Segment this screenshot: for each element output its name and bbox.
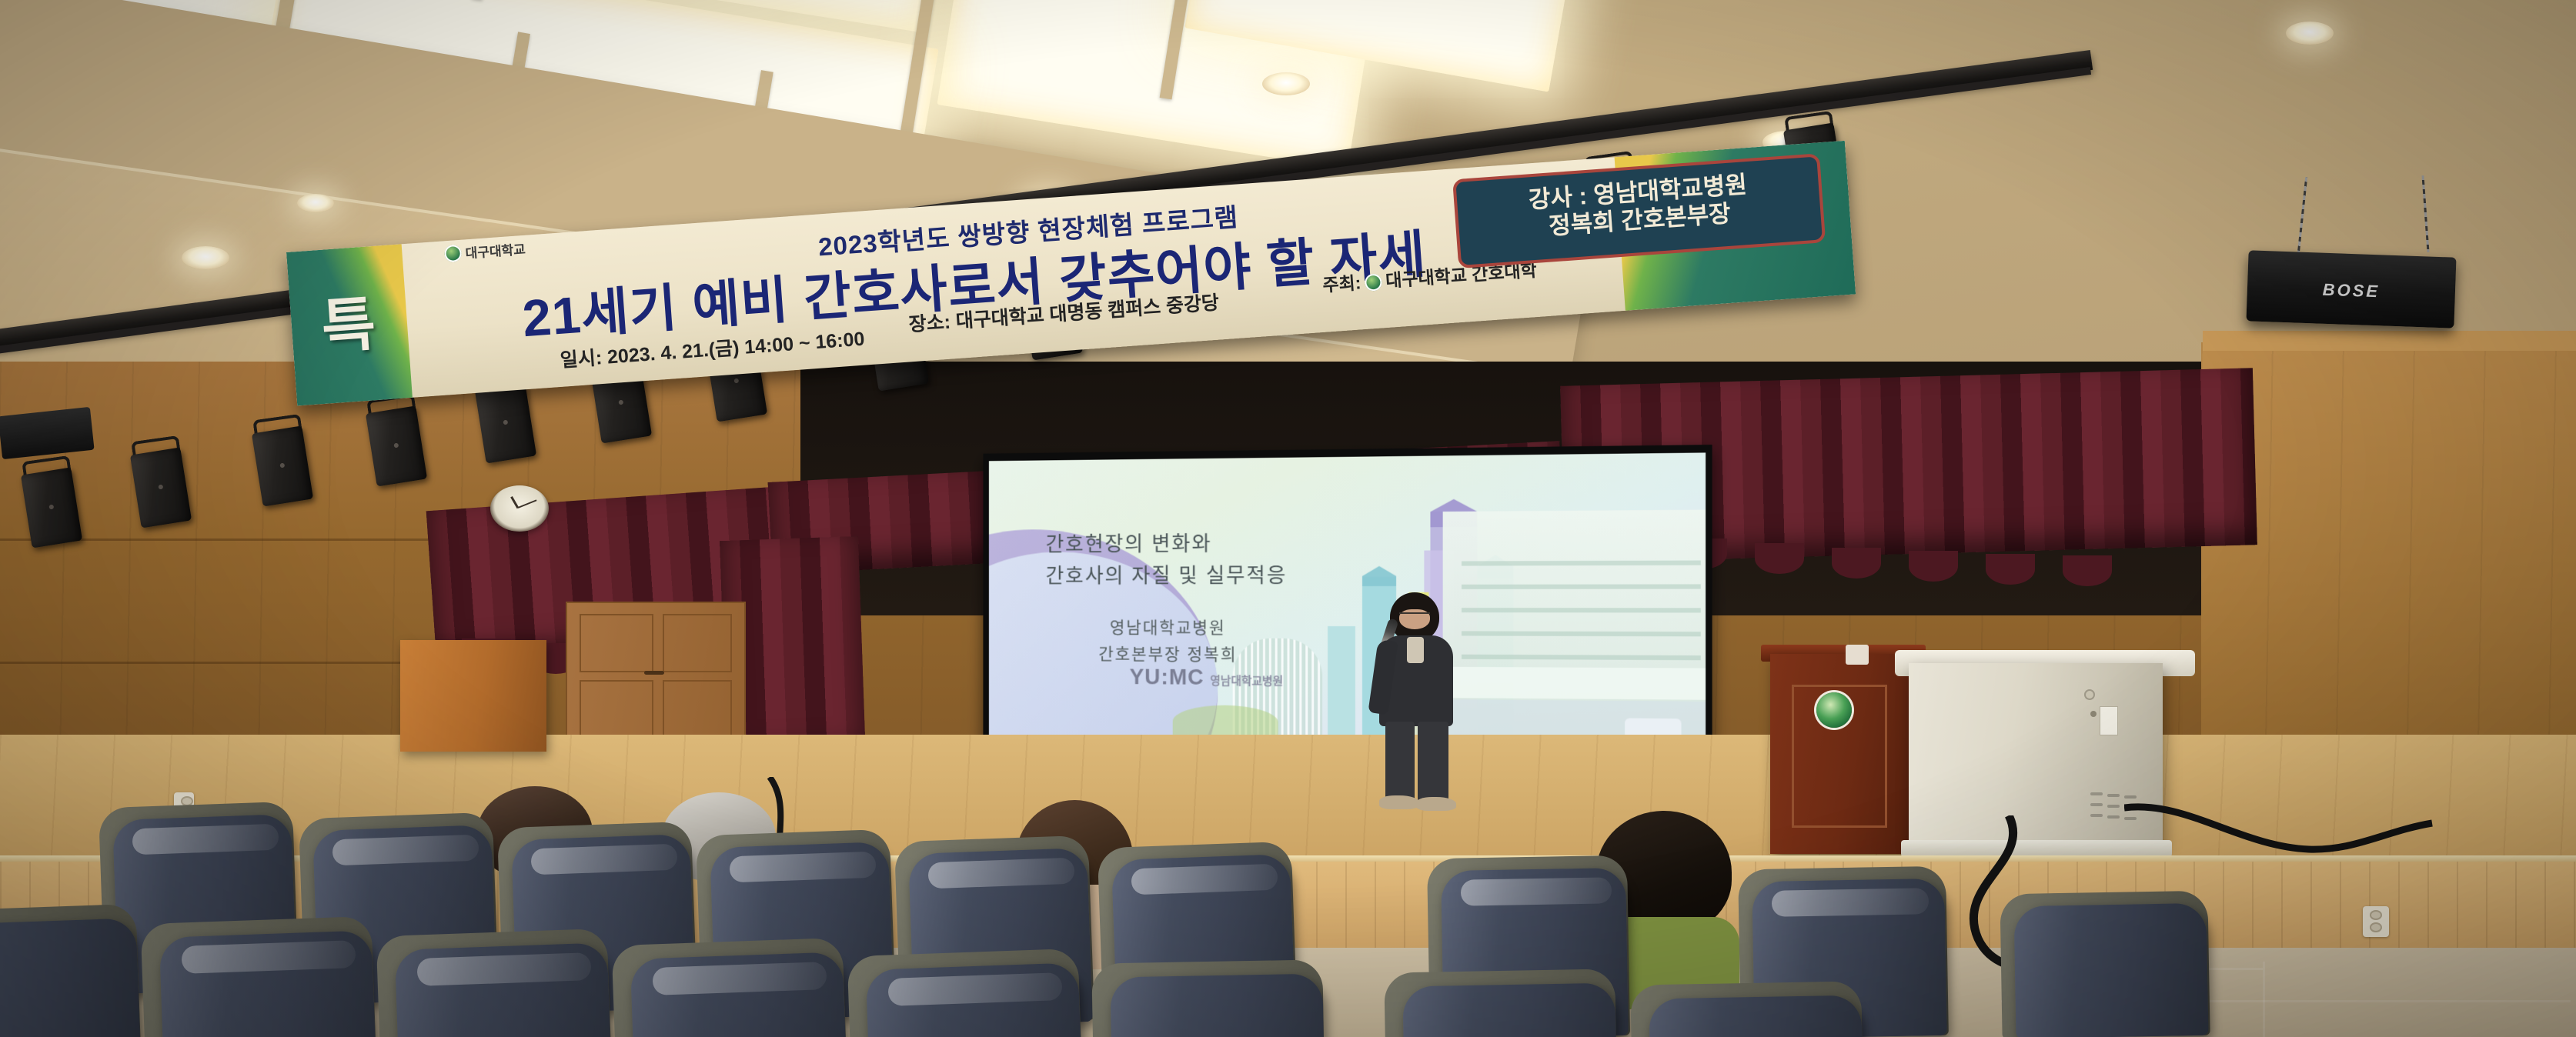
stage-wood-cabinet — [400, 640, 546, 752]
seat[interactable] — [1110, 974, 1325, 1037]
slide-building-top — [1362, 566, 1396, 586]
slide-affiliation-line1: 영남대학교병원 — [1098, 615, 1237, 642]
wall-clock-icon — [490, 485, 549, 532]
door-handle-icon[interactable] — [644, 671, 664, 675]
seat[interactable] — [2014, 903, 2209, 1037]
stage-door[interactable] — [566, 602, 746, 757]
recessed-downlight — [1262, 72, 1310, 95]
slide-logo-mark: YU:MC — [1130, 665, 1204, 690]
slide-title: 간호현장의 변화와 간호사의 자질 및 실무적응 — [1046, 528, 1288, 592]
slide-building — [1328, 626, 1355, 743]
seat[interactable] — [1649, 995, 1863, 1037]
console-indicator-icon — [2090, 711, 2097, 717]
console-lock-icon[interactable] — [2084, 689, 2095, 700]
auditorium-scene: 특 강 대구대학교 2023학년도 쌍방향 현장체험 프로그램 21세기 예비 … — [0, 0, 2576, 1037]
presenter-blouse — [1407, 637, 1424, 663]
wall-cornice — [2203, 331, 2576, 351]
seat-highlight — [1131, 864, 1278, 895]
curtain-scallop — [1986, 554, 2035, 585]
wall-power-outlet[interactable] — [2363, 906, 2389, 937]
presentation-slide: 간호현장의 변화와 간호사의 자질 및 실무적응 영남대학교병원 간호본부장 정… — [989, 452, 1706, 747]
seat-highlight — [332, 835, 479, 866]
seat-highlight — [729, 852, 876, 883]
seat[interactable] — [1402, 983, 1617, 1037]
recessed-downlight — [182, 246, 229, 269]
recessed-downlight — [2286, 22, 2334, 45]
seat-highlight — [530, 844, 677, 875]
university-emblem-icon — [444, 245, 463, 263]
bose-logo: BOSE — [2322, 280, 2380, 302]
presenter — [1356, 592, 1495, 815]
curtain-scallop — [1755, 543, 1804, 574]
slide-affiliation-line2: 간호본부장 정복희 — [1098, 641, 1237, 669]
curtain-scallop — [2063, 555, 2112, 586]
presenter-shoe — [1379, 795, 1419, 809]
recessed-downlight — [297, 194, 334, 212]
seat-highlight — [927, 858, 1074, 889]
slide-hospital-band — [1462, 561, 1701, 566]
glasses-icon — [1399, 612, 1430, 619]
curtain-scallop — [1909, 551, 1958, 582]
seat-highlight — [1461, 877, 1612, 905]
console-port[interactable] — [2100, 706, 2118, 735]
presenter-shoe — [1416, 797, 1456, 811]
slide-hospital-band — [1462, 584, 1701, 589]
seat-highlight — [1772, 888, 1929, 917]
banner-left-badge: 특 — [301, 294, 397, 358]
slide-logo: YU:MC영남대학교병원 — [1130, 665, 1284, 692]
banner-university-mark: 대구대학교 — [440, 238, 526, 264]
seat[interactable] — [0, 918, 141, 1037]
seat-highlight — [132, 824, 279, 855]
hanging-bose-speaker: BOSE — [2246, 250, 2456, 328]
slide-affiliation: 영남대학교병원 간호본부장 정복희 — [1098, 615, 1237, 669]
paper-cup — [1846, 645, 1869, 665]
slide-hospital-band — [1462, 608, 1701, 612]
curtain-scallop — [1832, 548, 1881, 579]
presenter-leg — [1418, 722, 1448, 802]
university-emblem-icon — [1816, 692, 1852, 728]
presenter-leg — [1385, 722, 1415, 802]
slide-hospital-band — [1462, 631, 1701, 636]
slide-title-line2: 간호사의 자질 및 실무적응 — [1046, 560, 1288, 592]
projection-screen: 간호현장의 변화와 간호사의 자질 및 실무적응 영남대학교병원 간호본부장 정… — [983, 445, 1712, 755]
slide-title-line1: 간호현장의 변화와 — [1046, 528, 1288, 561]
slide-logo-korean: 영남대학교병원 — [1210, 675, 1283, 689]
university-emblem-icon — [1365, 273, 1383, 292]
